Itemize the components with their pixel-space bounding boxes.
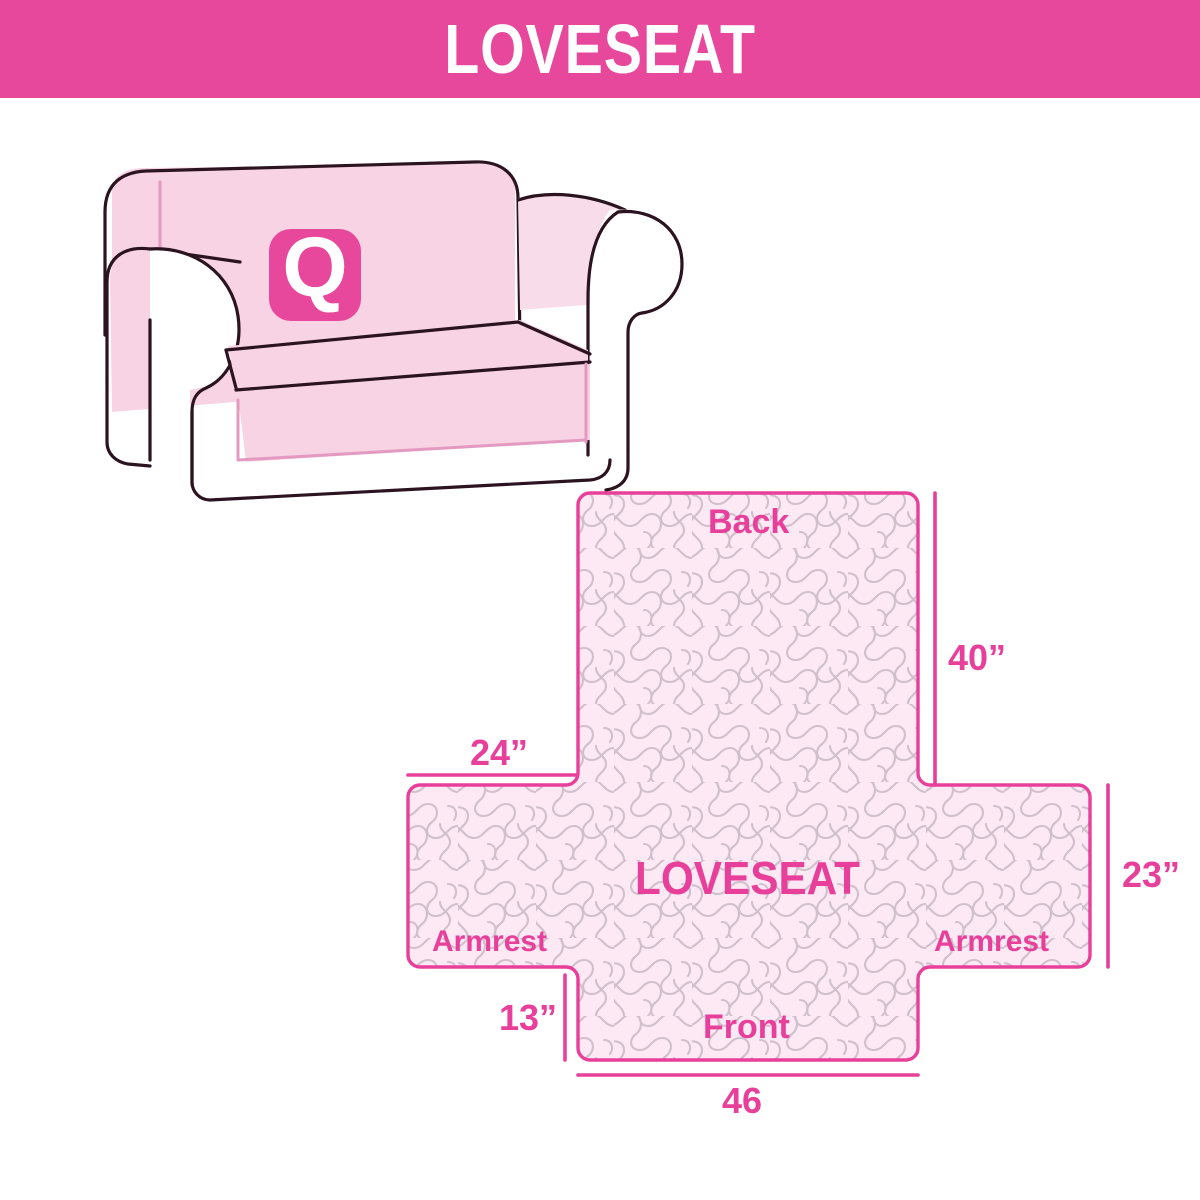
diagram-center-label: LOVESEAT bbox=[635, 855, 860, 901]
dimension-label-armrest-height: 23” bbox=[1122, 857, 1180, 893]
page-root: LOVESEAT .ol { fill:none; stroke:#2b1320… bbox=[0, 0, 1200, 1200]
dimension-label-back-width: 24” bbox=[470, 735, 528, 771]
dimension-label-front-height: 13” bbox=[499, 1000, 557, 1036]
panel-label-armrest-right: Armrest bbox=[934, 927, 1049, 957]
cross-diagram-svg bbox=[380, 470, 1200, 1150]
q-logo: Q bbox=[269, 220, 361, 321]
header-banner: LOVESEAT bbox=[0, 0, 1200, 98]
panel-label-front: Front bbox=[703, 1010, 790, 1044]
panel-label-back: Back bbox=[708, 505, 789, 539]
svg-text:Q: Q bbox=[282, 220, 347, 314]
panel-label-armrest-left: Armrest bbox=[432, 927, 547, 957]
dimension-label-back-height: 40” bbox=[948, 640, 1006, 676]
page-title: LOVESEAT bbox=[444, 14, 756, 84]
slipcover-panel-diagram bbox=[380, 470, 1200, 1150]
dimension-label-front-width: 46 bbox=[722, 1083, 762, 1119]
